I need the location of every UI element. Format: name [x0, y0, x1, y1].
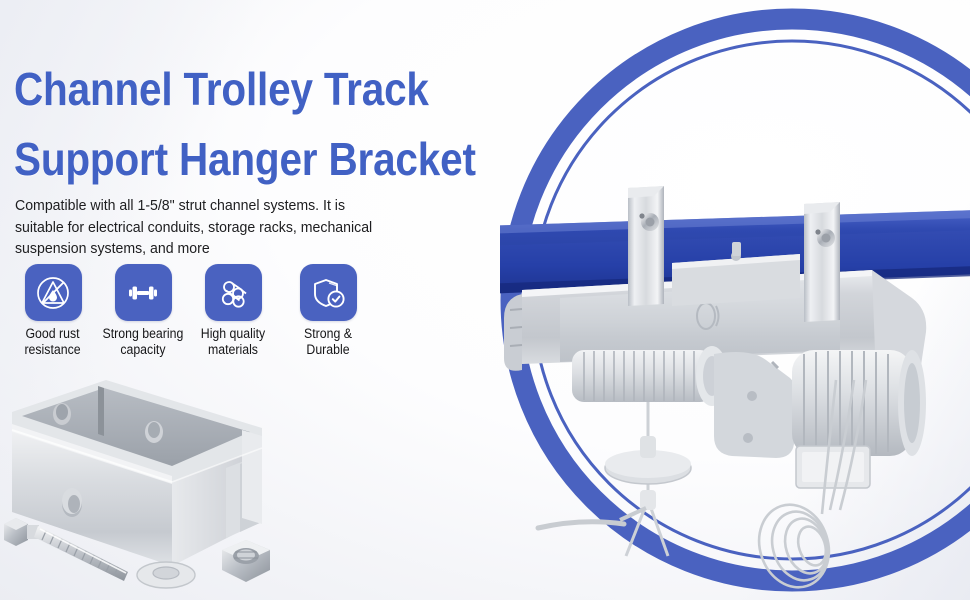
wire-rope-drum [572, 346, 728, 406]
channel-bracket-product-photo [0, 372, 324, 600]
hoist-scene [500, 0, 970, 600]
page-title: Channel Trolley Track Support Hanger Bra… [14, 55, 489, 195]
gearbox-housing [714, 352, 798, 458]
hanger-bracket-right [804, 202, 840, 322]
shield-check-icon [308, 273, 348, 313]
feature-good-rust-resistance: Good rust resistance [8, 264, 98, 357]
feature-strong-and-durable: Strong & Durable [278, 264, 378, 357]
hex-nut [222, 540, 270, 582]
feature-icon-tile [25, 264, 82, 321]
headline-line-1: Channel Trolley Track [14, 63, 429, 115]
feature-icon-tile [205, 264, 262, 321]
dumbbell-icon [123, 273, 163, 313]
feature-list: Good rust resistance Strong bearing capa… [8, 264, 378, 357]
headline-line-2: Support Hanger Bracket [14, 125, 489, 195]
flat-washer [137, 562, 195, 588]
feature-label: Strong & Durable [282, 326, 374, 357]
subcopy-text: Compatible with all 1-5/8" strut channel… [15, 195, 380, 260]
no-rust-icon [33, 273, 73, 313]
feature-strong-bearing-capacity: Strong bearing capacity [98, 264, 188, 357]
feature-icon-tile [300, 264, 357, 321]
feature-label: Good rust resistance [25, 326, 81, 357]
feature-high-quality-materials: High quality materials [188, 264, 278, 357]
product-banner: Channel Trolley Track Support Hanger Bra… [0, 0, 970, 600]
hanger-bracket-left [628, 186, 664, 306]
feature-icon-tile [115, 264, 172, 321]
feature-label: High quality materials [201, 326, 265, 357]
stacked-pipes-icon [213, 273, 253, 313]
feature-label: Strong bearing capacity [103, 326, 184, 357]
